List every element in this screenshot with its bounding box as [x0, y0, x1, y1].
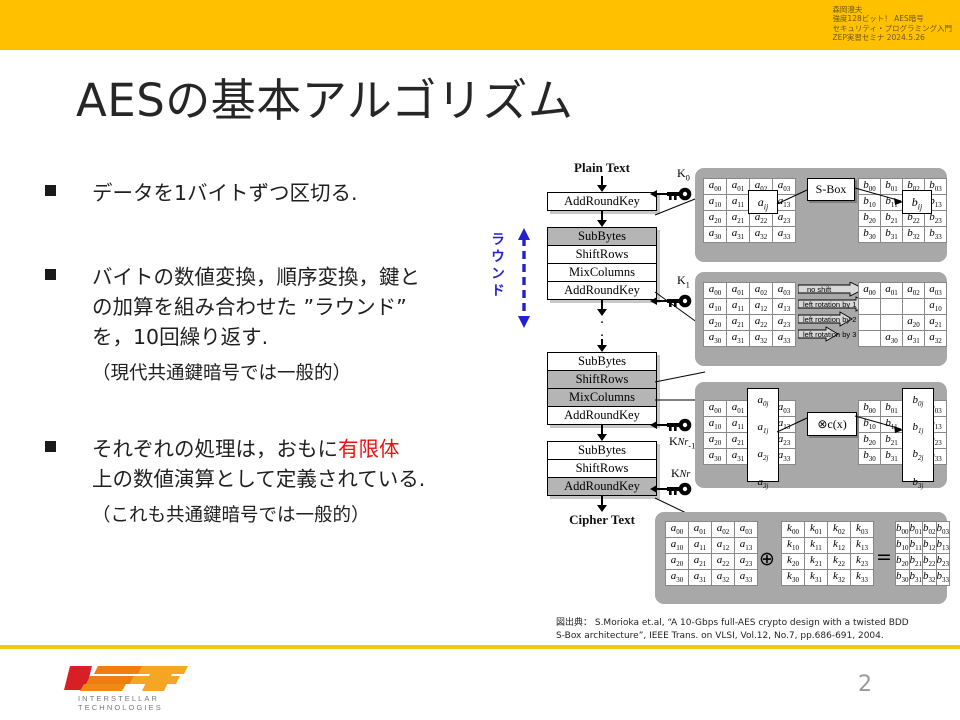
cell: a20 [903, 315, 925, 331]
panel-addroundkey: a00a01a02a03 a10a11a12a13 a20a21a22a23 a… [655, 512, 947, 604]
cell: k02 [828, 522, 851, 538]
cell: a11 [689, 538, 712, 554]
cell: a01 [881, 283, 903, 299]
arrow-down-icon [548, 339, 656, 352]
bullet-3-text-plain: それぞれの処理は，おもに [92, 437, 338, 461]
spacer [40, 208, 470, 262]
col-cell: b2j [903, 443, 933, 470]
cell: a20 [666, 554, 689, 570]
list-item: バイトの数値変換，順序変換，鍵と の加算を組み合わせた ”ラウンド” を，10回… [40, 262, 470, 352]
round-label-char-3: ン [487, 266, 509, 283]
cell: a12 [750, 299, 773, 315]
cell: a11 [727, 299, 750, 315]
cell: k13 [851, 538, 874, 554]
cell: b31 [909, 570, 923, 586]
header-meta-line-3: セキュリティ・プログラミング入門 [832, 24, 952, 33]
addroundkey-matrix-k: k00k01k02k03 k10k11k12k13 k20k21k22k23 k… [781, 521, 874, 586]
bullet-list: データを1バイトずつ区切る. バイトの数値変換，順序変換，鍵と の加算を組み合わ… [40, 178, 470, 531]
flow-stage-addroundkey: AddRoundKey [548, 407, 656, 424]
bullet-2-note: （現代共通鍵暗号では一般的） [40, 359, 470, 389]
cell [881, 315, 903, 331]
cell: a33 [735, 570, 758, 586]
cell: b13 [936, 538, 950, 554]
cell [881, 299, 903, 315]
bullet-3-highlight: 有限体 [338, 437, 400, 461]
cell: b32 [923, 570, 937, 586]
cell: a01 [689, 522, 712, 538]
cell: b33 [936, 570, 950, 586]
cell: a03 [925, 283, 947, 299]
round-label: ラ ウ ン ド [487, 232, 509, 300]
header-meta: 森岡澄夫 強度128ビット！ AES暗号 セキュリティ・プログラミング入門 ZE… [832, 5, 952, 43]
cell: a00 [666, 522, 689, 538]
shiftrows-label-row3: left rotation by 3 [803, 330, 856, 339]
cell: a33 [773, 227, 796, 243]
cell: b10 [896, 538, 910, 554]
cell: b21 [909, 554, 923, 570]
cell: a30 [666, 570, 689, 586]
slide-root: 森岡澄夫 強度128ビット！ AES暗号 セキュリティ・プログラミング入門 ZE… [0, 0, 960, 720]
bullet-3-note: （これも共通鍵暗号では一般的） [40, 501, 470, 531]
cell: k22 [828, 554, 851, 570]
key-label-knr: KNr [671, 466, 690, 481]
cell: a10 [704, 299, 727, 315]
flow-stage-subbytes: SubBytes [548, 228, 656, 246]
cell [859, 331, 881, 347]
key-icon [666, 294, 692, 308]
cell: b30 [859, 227, 881, 243]
cell: a33 [773, 331, 796, 347]
cell: k21 [805, 554, 828, 570]
cell: a23 [773, 315, 796, 331]
cell: a12 [712, 538, 735, 554]
sbox-connector [775, 186, 907, 214]
cell: a01 [727, 179, 750, 195]
cell: k10 [782, 538, 805, 554]
figure-citation: 図出典： S.Morioka et.al, “A 10-Gbps full-AE… [556, 617, 956, 642]
col-cell: b3j [903, 471, 933, 498]
cell: a31 [727, 227, 750, 243]
interstellar-logo-icon [38, 664, 224, 694]
cell: b12 [923, 538, 937, 554]
cell: k11 [805, 538, 828, 554]
mixcolumns-connector [775, 412, 907, 438]
bullet-marker-icon [45, 269, 56, 280]
cell: b31 [881, 449, 903, 465]
flow-stage-mixcolumns: MixColumns [548, 389, 656, 407]
flow-stage-subbytes: SubBytes [548, 353, 656, 371]
bullet-2-line-2: の加算を組み合わせた ”ラウンド” [92, 292, 470, 322]
cell: a00 [704, 283, 727, 299]
cell: b30 [859, 449, 881, 465]
key-arrow-icon [657, 488, 667, 490]
arrow-down-icon [548, 211, 656, 227]
subbytes-highlight-aij: aij [748, 190, 778, 214]
cell [859, 315, 881, 331]
cell: a11 [727, 195, 750, 211]
cell [903, 299, 925, 315]
key-icon [666, 482, 692, 496]
flow-stage-addroundkey: AddRoundKey [548, 282, 656, 299]
addroundkey-matrix-b: b00b01b02b03 b10b11b12b13 b20b21b22b23 b… [895, 521, 950, 586]
cell: b22 [923, 554, 937, 570]
cell: k31 [805, 570, 828, 586]
key-label-k1: K1 [677, 273, 690, 289]
cell: a21 [925, 315, 947, 331]
aes-flowchart: Plain Text AddRoundKey SubBytes ShiftRow… [542, 160, 662, 528]
footer-rule [0, 645, 960, 649]
round-label-char-1: ラ [487, 232, 509, 249]
cell: a21 [727, 315, 750, 331]
cell: b30 [896, 570, 910, 586]
key-arrow-icon [657, 300, 667, 302]
plain-text-label: Plain Text [542, 160, 662, 176]
cell: b02 [923, 522, 937, 538]
col-cell: b1j [903, 416, 933, 443]
cell: k20 [782, 554, 805, 570]
cell: a13 [735, 538, 758, 554]
cell: a02 [712, 522, 735, 538]
header-band: 森岡澄夫 強度128ビット！ AES暗号 セキュリティ・プログラミング入門 ZE… [0, 0, 960, 50]
cell: a22 [750, 315, 773, 331]
header-meta-line-1: 森岡澄夫 [832, 5, 952, 14]
cell: k12 [828, 538, 851, 554]
arrow-down-icon [548, 496, 656, 512]
col-cell: b0j [903, 389, 933, 416]
key-label-k0: K0 [677, 166, 690, 182]
cell: b11 [909, 538, 923, 554]
key-arrow-icon [657, 193, 667, 195]
addroundkey-matrix-a: a00a01a02a03 a10a11a12a13 a20a21a22a23 a… [665, 521, 758, 586]
cell: a00 [704, 401, 727, 417]
header-meta-line-2: 強度128ビット！ AES暗号 [832, 14, 952, 23]
round-double-arrow-icon [517, 228, 531, 328]
cell: a32 [712, 570, 735, 586]
company-logo: INTERSTELLAR TECHNOLOGIES [38, 664, 224, 708]
list-item: データを1バイトずつ区切る. [40, 178, 470, 208]
vertical-ellipsis-icon: ... [548, 313, 656, 339]
cell: k03 [851, 522, 874, 538]
cell [859, 299, 881, 315]
cell: a02 [750, 283, 773, 299]
panel-mixcolumns: a00a01a02a03 a10a11a12a13 a20a21a22a23 a… [695, 382, 947, 488]
round-label-char-4: ド [487, 283, 509, 300]
shiftrows-output-matrix: a00a01a02a03 a10 a20a21 a30a31a32 [858, 282, 947, 347]
citation-line-1: 図出典： S.Morioka et.al, “A 10-Gbps full-AE… [556, 617, 956, 630]
bullet-3-line-1: それぞれの処理は，おもに有限体 [92, 434, 470, 464]
cell: b20 [896, 554, 910, 570]
flow-stage-subbytes: SubBytes [548, 442, 656, 460]
cell: k23 [851, 554, 874, 570]
cell: a20 [704, 211, 727, 227]
cell: a30 [704, 227, 727, 243]
shiftrows-input-matrix: a00a01a02a03 a10a11a12a13 a20a21a22a23 a… [703, 282, 796, 347]
cell: k00 [782, 522, 805, 538]
col-cell: a0j [748, 389, 778, 416]
cell: b23 [936, 554, 950, 570]
panel-subbytes: a00a01a02a03 a10a11a12a13 a20a21a22a23 a… [695, 168, 947, 262]
citation-line-2: S-Box architecture”, IEEE Trans. on VLSI… [556, 630, 956, 643]
cell: a00 [859, 283, 881, 299]
cell: b01 [909, 522, 923, 538]
header-meta-line-4: ZEP実習セミナ 2024.5.26 [832, 33, 952, 42]
page-number: 2 [858, 672, 872, 697]
key-icon [666, 418, 692, 432]
cell: a21 [727, 211, 750, 227]
panel-shiftrows: a00a01a02a03 a10a11a12a13 a20a21a22a23 a… [695, 272, 947, 366]
flow-stage-shiftrows: ShiftRows [548, 246, 656, 264]
cell: a30 [881, 331, 903, 347]
cell: a10 [925, 299, 947, 315]
cell: b31 [881, 227, 903, 243]
page-title: AESの基本アルゴリズム [76, 74, 573, 128]
flow-stage-addroundkey-initial: AddRoundKey [547, 192, 657, 211]
xor-symbol: ⊕ [759, 548, 775, 570]
shiftrows-label-row0: no shift [807, 285, 831, 294]
list-item: それぞれの処理は，おもに有限体 上の数値演算として定義されている. [40, 434, 470, 494]
cell: a32 [925, 331, 947, 347]
cell: a30 [704, 449, 727, 465]
key-arrow-icon [657, 424, 667, 426]
cell: b33 [925, 227, 947, 243]
flow-stage-shiftrows: ShiftRows [548, 460, 656, 478]
col-cell: a2j [748, 443, 778, 470]
round-label-char-2: ウ [487, 249, 509, 266]
cell: k01 [805, 522, 828, 538]
cipher-text-label: Cipher Text [542, 512, 662, 528]
cell: b00 [896, 522, 910, 538]
shiftrows-label-row1: left rotation by 1 [803, 300, 856, 309]
cell: k33 [851, 570, 874, 586]
cell: a32 [750, 331, 773, 347]
cell: a02 [903, 283, 925, 299]
cell: a10 [666, 538, 689, 554]
key-label-knr-minus-1: KNr-1 [669, 434, 695, 450]
cell: a10 [704, 417, 727, 433]
cell: a13 [773, 299, 796, 315]
flow-final-round-group: SubBytes ShiftRows AddRoundKey [547, 441, 657, 496]
cell: b03 [936, 522, 950, 538]
spacer [40, 389, 470, 434]
cell: a20 [704, 433, 727, 449]
cell: a00 [704, 179, 727, 195]
cell: a30 [704, 331, 727, 347]
aes-algorithm-diagram: ラ ウ ン ド Plain Text AddRoundKey SubBytes … [487, 160, 952, 630]
arrow-down-icon [548, 425, 656, 441]
bullet-1-text: データを1バイトずつ区切る. [92, 178, 470, 208]
cell: a03 [773, 283, 796, 299]
bullet-3-line-2: 上の数値演算として定義されている. [92, 464, 470, 494]
arrow-down-icon [548, 176, 656, 192]
cell: a22 [712, 554, 735, 570]
cell: a31 [903, 331, 925, 347]
cell: a10 [704, 195, 727, 211]
flow-round-group-2: SubBytes ShiftRows MixColumns AddRoundKe… [547, 352, 657, 425]
cell: a23 [735, 554, 758, 570]
flow-stage-mixcolumns: MixColumns [548, 264, 656, 282]
shiftrows-label-row2: left rotation by 2 [803, 315, 856, 324]
bullet-marker-icon [45, 441, 56, 452]
cell: a32 [750, 227, 773, 243]
flow-stage-addroundkey: AddRoundKey [548, 478, 656, 495]
cell: a31 [727, 331, 750, 347]
cell: a21 [689, 554, 712, 570]
cell: a20 [704, 315, 727, 331]
flow-stage-shiftrows: ShiftRows [548, 371, 656, 389]
cell: k30 [782, 570, 805, 586]
bullet-2-line-3: を，10回繰り返す. [92, 322, 470, 352]
logo-wordmark: INTERSTELLAR TECHNOLOGIES [78, 694, 224, 712]
cell: a01 [727, 283, 750, 299]
key-icon [666, 187, 692, 201]
cell: b32 [903, 227, 925, 243]
bullet-marker-icon [45, 185, 56, 196]
cell: k32 [828, 570, 851, 586]
cell: a03 [735, 522, 758, 538]
col-cell: a1j [748, 416, 778, 443]
flow-round-group-1: SubBytes ShiftRows MixColumns AddRoundKe… [547, 227, 657, 300]
bullet-2-line-1: バイトの数値変換，順序変換，鍵と [92, 262, 470, 292]
col-cell: a3j [748, 471, 778, 498]
cell: a31 [689, 570, 712, 586]
equals-symbol: = [876, 546, 892, 568]
